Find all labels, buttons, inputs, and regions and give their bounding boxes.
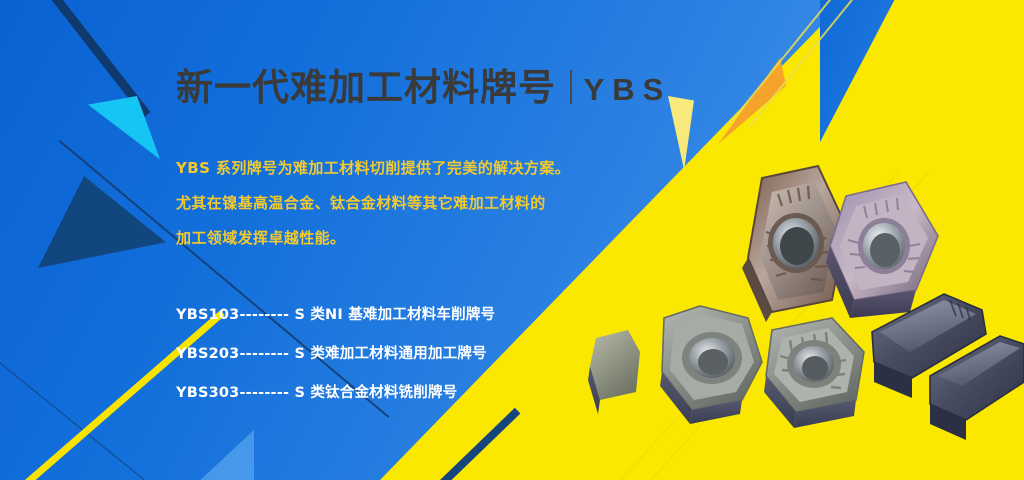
description-line-3: 加工领域发挥卓越性能。	[176, 221, 696, 256]
page-title: 新一代难加工材料牌号 YBS	[176, 66, 696, 109]
description-line-2: 尤其在镍基高温合金、钛合金材料等其它难加工材料的	[176, 186, 696, 221]
description-line-1: YBS 系列牌号为难加工材料切削提供了完美的解决方案。	[176, 151, 696, 186]
navy-triangle-accent	[38, 176, 166, 268]
thin-navy-line-lower	[0, 330, 193, 480]
grade-item-ybs203: YBS203-------- S 类难加工材料通用加工牌号	[176, 335, 696, 374]
grade-item-ybs303: YBS303-------- S 类钛合金材料铣削牌号	[176, 374, 696, 413]
description-paragraph: YBS 系列牌号为难加工材料切削提供了完美的解决方案。 尤其在镍基高温合金、钛合…	[176, 151, 696, 256]
banner-text-column: 新一代难加工材料牌号 YBS YBS 系列牌号为难加工材料切削提供了完美的解决方…	[176, 66, 696, 413]
light-blue-triangle-accent	[196, 430, 254, 480]
headline-separator	[570, 70, 572, 104]
headline-brand: YBS	[584, 73, 672, 107]
headline-chinese: 新一代难加工材料牌号	[176, 68, 556, 109]
cyan-triangle-accent	[88, 96, 160, 168]
product-banner: 新一代难加工材料牌号 YBS YBS 系列牌号为难加工材料切削提供了完美的解决方…	[0, 0, 1024, 480]
grade-list: YBS103-------- S 类NI 基难加工材料车削牌号 YBS203--…	[176, 296, 696, 413]
grade-item-ybs103: YBS103-------- S 类NI 基难加工材料车削牌号	[176, 296, 696, 335]
